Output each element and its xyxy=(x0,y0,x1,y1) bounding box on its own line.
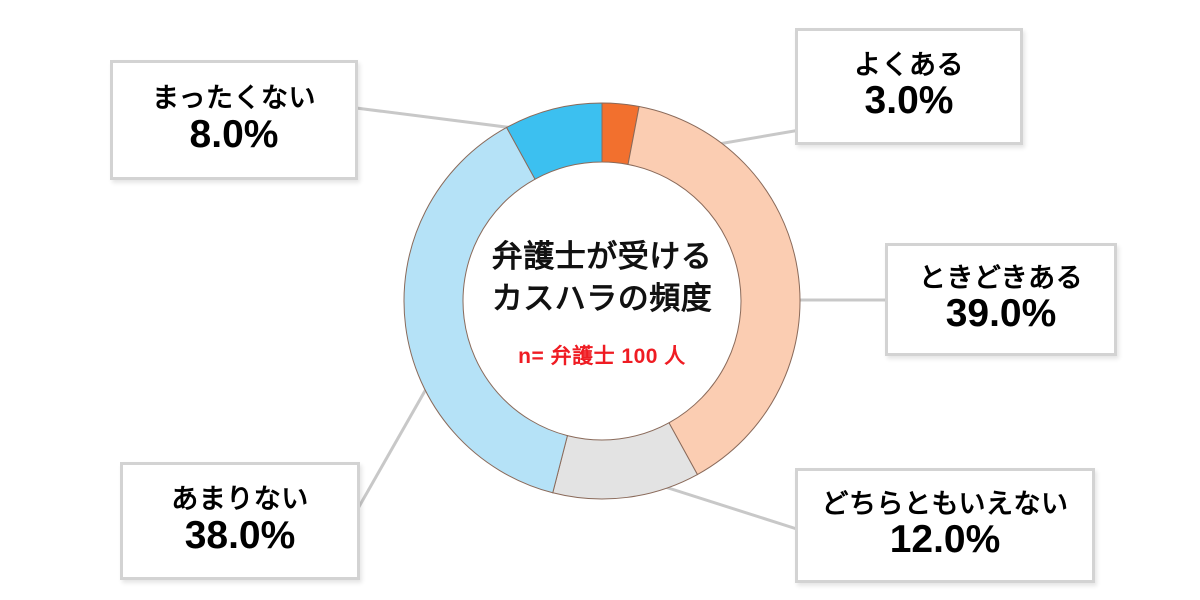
callout-value: 12.0% xyxy=(890,520,1001,561)
donut-segment xyxy=(628,107,800,475)
donut-segment xyxy=(404,127,567,492)
callout-value: 3.0% xyxy=(865,81,954,122)
callout-label: あまりない xyxy=(171,485,309,513)
leader-line-amarinai xyxy=(356,382,430,512)
callout-dochiratomoienai: どちらともいえない 12.0% xyxy=(795,468,1095,583)
callout-value: 39.0% xyxy=(946,294,1057,335)
donut-segment xyxy=(553,423,698,499)
callout-tokidokiaru: ときどきある 39.0% xyxy=(885,243,1117,356)
chart-canvas: 弁護士が受ける カスハラの頻度 n= 弁護士 100 人 よくある 3.0% と… xyxy=(0,0,1200,600)
donut-segments xyxy=(404,103,800,499)
callout-label: ときどきある xyxy=(919,264,1083,292)
callout-label: よくある xyxy=(854,51,964,79)
callout-label: まったくない xyxy=(152,84,316,112)
callout-value: 38.0% xyxy=(185,516,296,557)
callout-mattakunai: まったくない 8.0% xyxy=(110,60,358,180)
callout-amarinai: あまりない 38.0% xyxy=(120,462,360,580)
callout-yokuaru: よくある 3.0% xyxy=(795,28,1023,145)
callout-value: 8.0% xyxy=(190,115,279,156)
callout-label: どちらともいえない xyxy=(822,490,1069,518)
